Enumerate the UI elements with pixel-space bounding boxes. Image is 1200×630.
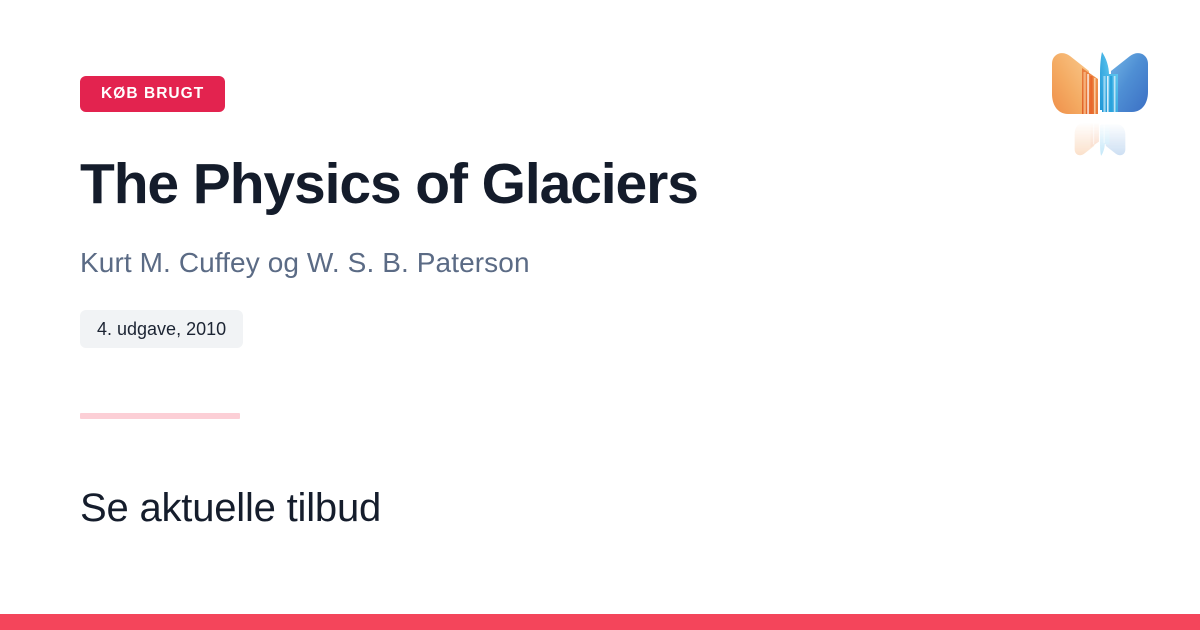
status-badge: KØB BRUGT bbox=[80, 76, 225, 112]
cta-heading[interactable]: Se aktuelle tilbud bbox=[80, 484, 381, 532]
divider bbox=[80, 413, 240, 419]
book-authors: Kurt M. Cuffey og W. S. B. Paterson bbox=[80, 245, 530, 281]
butterfly-logo-icon bbox=[1040, 48, 1160, 120]
bottom-accent-bar bbox=[0, 614, 1200, 630]
edition-chip: 4. udgave, 2010 bbox=[80, 310, 243, 348]
brand-logo[interactable] bbox=[1040, 48, 1160, 158]
page-title: The Physics of Glaciers bbox=[80, 154, 698, 216]
butterfly-logo-reflection-icon bbox=[1040, 120, 1160, 158]
promo-card: KØB BRUGT The Physics of Glaciers Kurt M… bbox=[0, 0, 1200, 630]
